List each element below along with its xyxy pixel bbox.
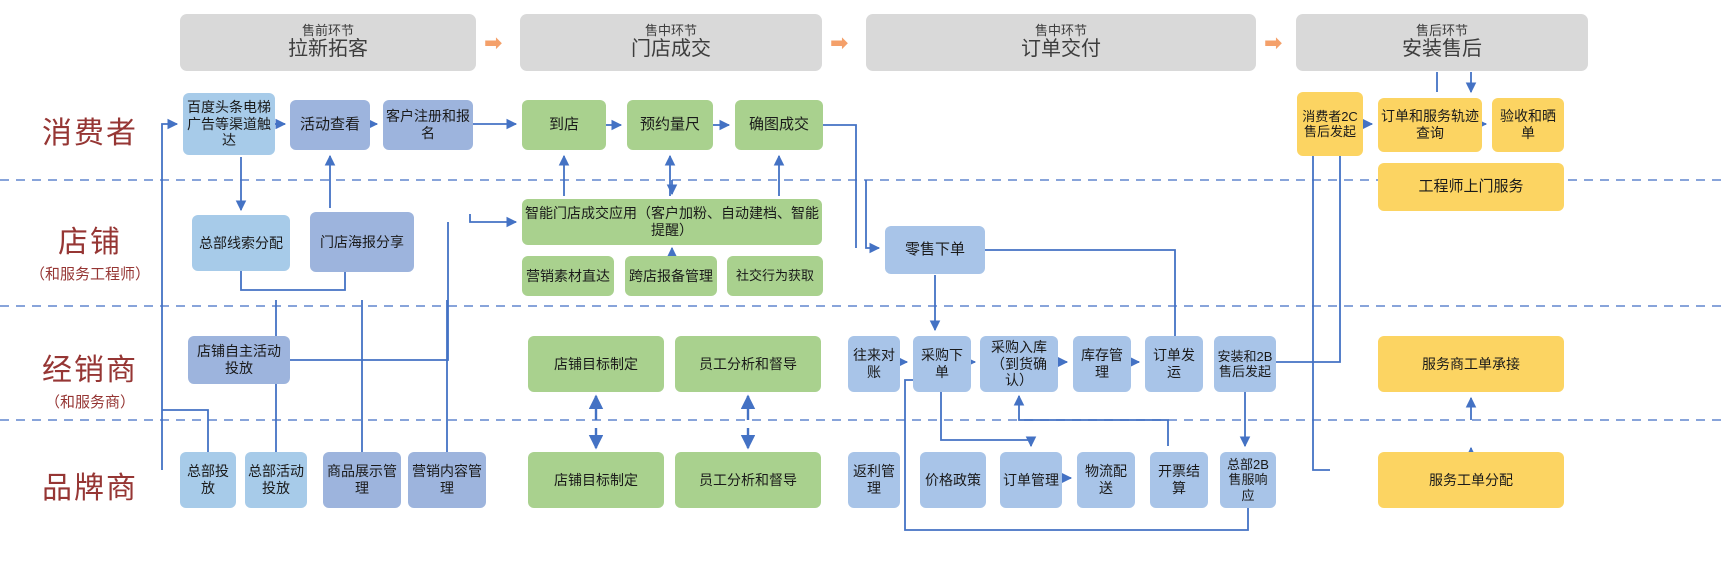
flow-node-label: 店铺目标制定: [554, 472, 638, 489]
lane-label-dealer: 经销商 （和服务商）: [10, 340, 170, 416]
flow-node[interactable]: 订单和服务轨迹查询: [1378, 98, 1482, 152]
flow-node-label: 店铺目标制定: [554, 356, 638, 373]
flow-node-label: 总部活动投放: [248, 463, 304, 496]
flow-node[interactable]: 返利管理: [848, 452, 900, 508]
flow-node-label: 开票结算: [1153, 463, 1205, 496]
flow-node[interactable]: 总部线索分配: [192, 215, 290, 271]
flow-node[interactable]: 门店海报分享: [310, 212, 414, 272]
flow-node-label: 智能门店成交应用（客户加粉、自动建档、智能提醒）: [525, 205, 819, 238]
phase-arrow-icon: ➡: [830, 30, 846, 56]
flow-node-label: 总部投放: [183, 463, 233, 496]
flow-node-label: 营销素材直达: [526, 268, 610, 285]
flow-node[interactable]: 订单发运: [1145, 336, 1203, 392]
flow-node-label: 价格政策: [925, 472, 981, 489]
flow-node-label: 安装和2B售后发起: [1217, 349, 1273, 380]
phase-header-order-delivery: 售中环节 订单交付: [866, 14, 1256, 71]
flow-node[interactable]: 总部活动投放: [245, 452, 307, 508]
flow-node-label: 门店海报分享: [320, 234, 404, 251]
phase-title: 拉新拓客: [288, 38, 368, 62]
phase-header-store-deal: 售中环节 门店成交: [520, 14, 822, 71]
flow-node-label: 工程师上门服务: [1418, 178, 1523, 196]
flow-node[interactable]: 开票结算: [1150, 452, 1208, 508]
flow-node-label: 社交行为获取: [736, 268, 814, 283]
flow-node[interactable]: 确图成交: [735, 100, 823, 150]
flow-node[interactable]: 员工分析和督导: [675, 452, 821, 508]
flow-node[interactable]: 活动查看: [290, 100, 370, 150]
flow-node[interactable]: 百度头条电梯广告等渠道触达: [183, 93, 275, 155]
phase-subtitle: 售中环节: [1035, 23, 1087, 38]
flow-node-label: 员工分析和督导: [699, 356, 797, 373]
phase-subtitle: 售前环节: [302, 23, 354, 38]
flow-node-label: 订单管理: [1003, 472, 1059, 489]
flow-node[interactable]: 验收和晒单: [1492, 98, 1564, 152]
flow-node-label: 百度头条电梯广告等渠道触达: [186, 99, 272, 149]
phase-subtitle: 售中环节: [645, 23, 697, 38]
flow-node[interactable]: 工程师上门服务: [1378, 163, 1564, 211]
flow-node[interactable]: 物流配送: [1077, 452, 1135, 508]
flow-node[interactable]: 员工分析和督导: [675, 336, 821, 392]
flow-node[interactable]: 总部2B售服响应: [1220, 452, 1276, 508]
phase-title: 门店成交: [631, 38, 711, 62]
flow-node-label: 往来对账: [851, 347, 897, 380]
flow-node[interactable]: 往来对账: [848, 336, 900, 392]
arrow-glyph: ➡: [1264, 30, 1280, 56]
lane-subtitle: （和服务工程师）: [30, 263, 150, 284]
flow-node-label: 员工分析和督导: [699, 472, 797, 489]
flow-node[interactable]: 客户注册和报名: [383, 100, 473, 150]
flow-node-label: 服务工单分配: [1429, 472, 1513, 489]
flow-node[interactable]: 价格政策: [920, 452, 986, 508]
flowchart-canvas: 售前环节 拉新拓客 售中环节 门店成交 售中环节 订单交付 售后环节 安装售后 …: [0, 0, 1727, 583]
flow-node[interactable]: 订单管理: [1000, 452, 1062, 508]
flow-node-label: 采购下单: [916, 347, 968, 380]
lane-label-consumer: 消费者: [10, 100, 170, 160]
flow-node[interactable]: 消费者2C售后发起: [1297, 92, 1363, 156]
lane-title: 经销商: [42, 345, 138, 389]
phase-arrow-icon: ➡: [484, 30, 500, 56]
flow-node-label: 客户注册和报名: [386, 108, 470, 141]
flow-node[interactable]: 智能门店成交应用（客户加粉、自动建档、智能提醒）: [522, 199, 822, 245]
lane-title: 消费者: [42, 108, 138, 152]
phase-arrow-icon: ➡: [1264, 30, 1280, 56]
flow-node-label: 店铺自主活动投放: [191, 343, 287, 376]
flow-node[interactable]: 总部投放: [180, 452, 236, 508]
phase-subtitle: 售后环节: [1416, 23, 1468, 38]
lane-title: 店铺: [58, 217, 122, 261]
lane-title: 品牌商: [42, 463, 138, 507]
lane-label-store: 店铺 （和服务工程师）: [10, 212, 170, 288]
flow-node-label: 到店: [549, 116, 579, 134]
flow-node-label: 商品展示管理: [326, 463, 398, 496]
flow-node-label: 采购入库（到货确认）: [983, 339, 1055, 389]
flow-node-label: 跨店报备管理: [629, 268, 713, 285]
lane-subtitle: （和服务商）: [45, 391, 135, 412]
flow-node[interactable]: 营销素材直达: [522, 256, 614, 296]
flow-node-label: 返利管理: [851, 463, 897, 496]
flow-node[interactable]: 库存管理: [1073, 336, 1131, 392]
phase-header-aftersale: 售后环节 安装售后: [1296, 14, 1588, 71]
phase-header-presale: 售前环节 拉新拓客: [180, 14, 476, 71]
lane-label-brand: 品牌商: [10, 455, 170, 515]
flow-node[interactable]: 预约量尺: [627, 100, 713, 150]
flow-node[interactable]: 跨店报备管理: [625, 256, 717, 296]
arrow-glyph: ➡: [484, 30, 500, 56]
flow-node-label: 预约量尺: [640, 116, 700, 134]
flow-node[interactable]: 零售下单: [885, 226, 985, 274]
flow-node-label: 总部2B售服响应: [1223, 457, 1273, 503]
flow-node-label: 零售下单: [905, 241, 965, 259]
flow-node-label: 物流配送: [1080, 463, 1132, 496]
flow-node-label: 消费者2C售后发起: [1300, 109, 1360, 140]
flow-node[interactable]: 服务商工单承接: [1378, 336, 1564, 392]
flow-node[interactable]: 采购下单: [913, 336, 971, 392]
flow-node[interactable]: 社交行为获取: [727, 256, 823, 296]
flow-node-label: 营销内容管理: [411, 463, 483, 496]
flow-node-label: 库存管理: [1076, 347, 1128, 380]
phase-title: 订单交付: [1021, 38, 1101, 62]
flow-node[interactable]: 安装和2B售后发起: [1214, 336, 1276, 392]
flow-node-label: 订单和服务轨迹查询: [1381, 108, 1479, 141]
flow-node[interactable]: 店铺目标制定: [528, 452, 664, 508]
flow-node-label: 验收和晒单: [1495, 108, 1561, 141]
arrow-glyph: ➡: [830, 30, 846, 56]
flow-node[interactable]: 服务工单分配: [1378, 452, 1564, 508]
flow-node[interactable]: 营销内容管理: [408, 452, 486, 508]
flow-node[interactable]: 到店: [522, 100, 606, 150]
flow-node[interactable]: 采购入库（到货确认）: [980, 336, 1058, 392]
flow-node-label: 服务商工单承接: [1422, 356, 1520, 373]
flow-node[interactable]: 商品展示管理: [323, 452, 401, 508]
flow-node[interactable]: 店铺自主活动投放: [188, 336, 290, 384]
flow-node-label: 活动查看: [300, 116, 360, 134]
flow-node-label: 订单发运: [1148, 347, 1200, 380]
flow-node[interactable]: 店铺目标制定: [528, 336, 664, 392]
flow-node-label: 总部线索分配: [199, 235, 283, 252]
phase-title: 安装售后: [1402, 38, 1482, 62]
flow-node-label: 确图成交: [749, 116, 809, 134]
